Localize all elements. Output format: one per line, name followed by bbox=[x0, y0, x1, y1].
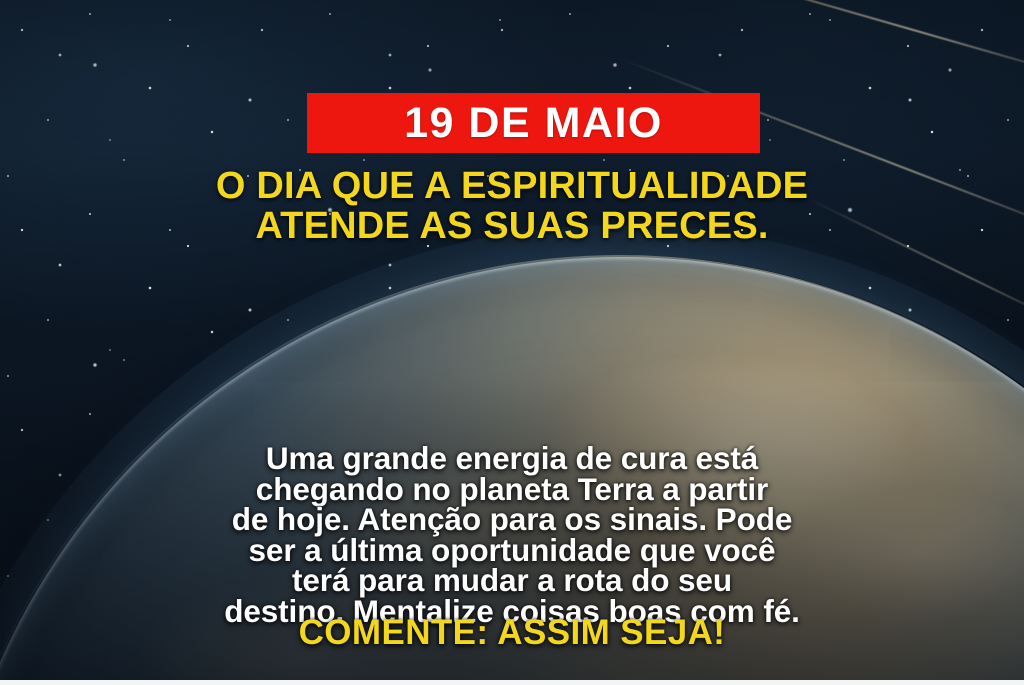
poster-content: 19 DE MAIO O DIA QUE A ESPIRITUALIDADE A… bbox=[0, 0, 1024, 685]
body-line-1: Uma grande energia de cura está bbox=[0, 443, 1024, 474]
headline-line-2: ATENDE AS SUAS PRECES. bbox=[0, 206, 1024, 246]
headline: O DIA QUE A ESPIRITUALIDADE ATENDE AS SU… bbox=[0, 166, 1024, 246]
body-line-3: de hoje. Atenção para os sinais. Pode bbox=[0, 504, 1024, 535]
body-line-4: ser a última oportunidade que você bbox=[0, 535, 1024, 566]
body-copy: Uma grande energia de cura está chegando… bbox=[0, 443, 1024, 626]
bottom-strip bbox=[0, 680, 1024, 685]
date-banner: 19 DE MAIO bbox=[307, 93, 760, 153]
date-banner-label: 19 DE MAIO bbox=[404, 102, 663, 145]
call-to-action-text: COMENTE: ASSIM SEJA! bbox=[0, 614, 1024, 652]
body-line-2: chegando no planeta Terra a partir bbox=[0, 474, 1024, 505]
poster: 19 DE MAIO O DIA QUE A ESPIRITUALIDADE A… bbox=[0, 0, 1024, 685]
body-line-5: terá para mudar a rota do seu bbox=[0, 565, 1024, 596]
headline-line-1: O DIA QUE A ESPIRITUALIDADE bbox=[0, 166, 1024, 206]
